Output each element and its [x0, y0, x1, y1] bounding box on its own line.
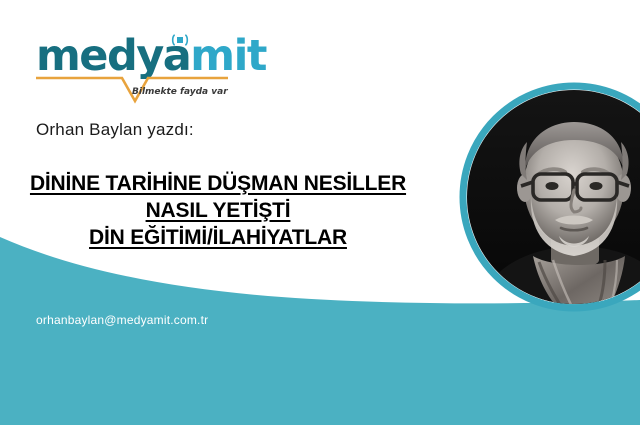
- article-header-card: medyamit Bilmekte fayda var Orhan Baylan…: [0, 0, 640, 425]
- headline-line-3: DİN EĞİTİMİ/İLAHİYATLAR: [0, 224, 436, 251]
- site-logo[interactable]: medyamit Bilmekte fayda var: [36, 33, 236, 111]
- headline-line-1: DİNİNE TARİHİNE DÜŞMAN NESİLLER: [0, 170, 436, 197]
- author-email[interactable]: orhanbaylan@medyamit.com.tr: [36, 313, 208, 327]
- author-byline: Orhan Baylan yazdı:: [36, 120, 194, 140]
- broadcast-antenna-icon: [170, 34, 190, 46]
- article-headline: DİNİNE TARİHİNE DÜŞMAN NESİLLER NASIL YE…: [0, 170, 436, 251]
- logo-tagline: Bilmekte fayda var: [132, 87, 228, 97]
- author-portrait: [455, 78, 640, 316]
- logo-wordmark: medyamit: [36, 33, 266, 79]
- portrait-photo: [455, 78, 640, 316]
- headline-line-2: NASIL YETİŞTİ: [0, 197, 436, 224]
